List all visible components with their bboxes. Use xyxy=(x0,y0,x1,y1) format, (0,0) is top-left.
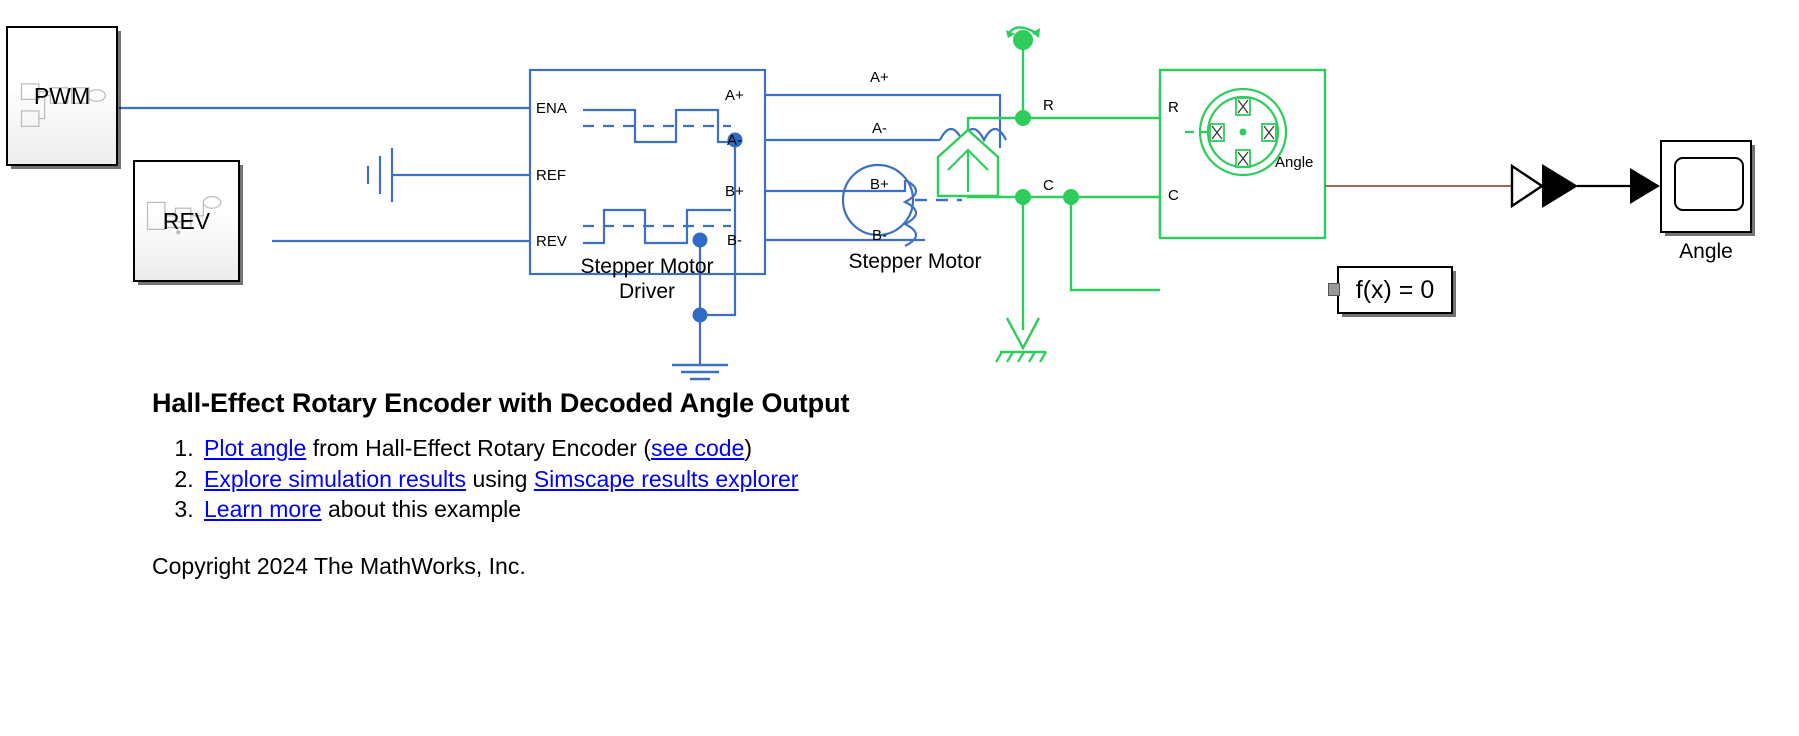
pwm-source-block[interactable]: PWM xyxy=(6,26,118,166)
scope-input-arrow xyxy=(1630,168,1660,204)
list-item-text: about this example xyxy=(322,496,521,522)
solver-label: f(x) = 0 xyxy=(1356,276,1435,305)
driver-port-ena: ENA xyxy=(536,101,567,116)
list-item: Explore simulation results using Simscap… xyxy=(200,464,1152,495)
driver-port-ref: REF xyxy=(536,168,566,183)
driver-port-b-minus: B- xyxy=(727,233,742,248)
simscape-results-explorer-link[interactable]: Simscape results explorer xyxy=(534,466,799,492)
wire-ref-ground xyxy=(368,148,530,202)
junction-dot xyxy=(1063,189,1079,205)
junction-dot xyxy=(1015,110,1031,126)
stepper-motor-name: Stepper Motor xyxy=(790,250,1040,275)
rotational-port-c: C xyxy=(1043,178,1054,193)
plot-angle-link[interactable]: Plot angle xyxy=(204,435,306,461)
motor-terminal-a-plus: A+ xyxy=(870,70,889,85)
scope-block[interactable] xyxy=(1660,140,1752,233)
solver-port xyxy=(1328,283,1340,296)
motor-terminal-b-plus: B+ xyxy=(870,177,889,192)
junction-dot xyxy=(693,233,708,248)
motor-terminal-b-minus: B- xyxy=(872,228,887,243)
rev-source-block[interactable]: REV xyxy=(133,160,240,282)
annotation-title: Hall-Effect Rotary Encoder with Decoded … xyxy=(152,388,1152,419)
explore-simulation-results-link[interactable]: Explore simulation results xyxy=(204,466,466,492)
encoder-port-angle: Angle xyxy=(1275,155,1313,170)
copyright-text: Copyright 2024 The MathWorks, Inc. xyxy=(152,553,1152,580)
rotational-port-r: R xyxy=(1043,98,1054,113)
driver-port-a-plus: A+ xyxy=(725,88,744,103)
junction-dot xyxy=(1015,189,1031,205)
learn-more-link[interactable]: Learn more xyxy=(204,496,322,522)
driver-port-rev: REV xyxy=(536,234,567,249)
driver-port-a-minus: A- xyxy=(727,133,742,148)
driver-name-line1: Stepper Motor xyxy=(487,255,807,280)
list-item-text: from Hall-Effect Rotary Encoder ( xyxy=(306,435,651,461)
junction-dot xyxy=(693,308,708,323)
pwm-source-label: PWM xyxy=(34,83,90,110)
ps-simulink-converter[interactable] xyxy=(1512,164,1578,208)
driver-name-line2: Driver xyxy=(487,280,807,305)
encoder-port-c: C xyxy=(1168,188,1179,203)
solver-configuration-block[interactable]: f(x) = 0 xyxy=(1337,266,1453,314)
list-item-text-tail: ) xyxy=(744,435,752,461)
list-item: Plot angle from Hall-Effect Rotary Encod… xyxy=(200,433,1152,464)
see-code-link[interactable]: see code xyxy=(651,435,744,461)
rev-source-label: REV xyxy=(163,208,210,235)
list-item-text: using xyxy=(466,466,534,492)
annotation-block: Hall-Effect Rotary Encoder with Decoded … xyxy=(152,388,1152,580)
model-canvas xyxy=(0,0,1799,736)
scope-label: Angle xyxy=(1660,240,1752,265)
motor-terminal-a-minus: A- xyxy=(872,121,887,136)
encoder-port-r: R xyxy=(1168,100,1179,115)
rotational-converter-block[interactable] xyxy=(936,130,1000,200)
stepper-motor-driver-name: Stepper Motor Driver xyxy=(487,255,807,305)
scope-screen-icon xyxy=(1674,157,1744,211)
annotation-list: Plot angle from Hall-Effect Rotary Encod… xyxy=(152,433,1152,525)
driver-port-b-plus: B+ xyxy=(725,184,744,199)
list-item: Learn more about this example xyxy=(200,494,1152,525)
